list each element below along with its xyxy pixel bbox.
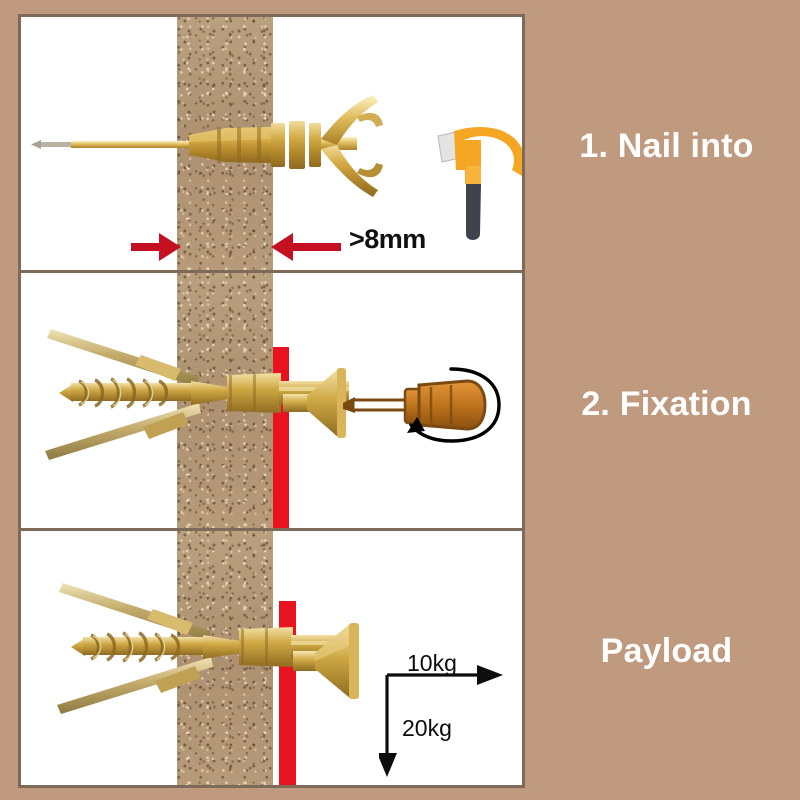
pullout-load-label: 20kg [402,715,452,742]
panel-column: >8mm [18,14,525,788]
step-1-panel: >8mm [21,17,522,270]
wall-thickness-label: >8mm [349,224,426,255]
wall-thickness-arrow-right [269,230,341,264]
step-3-panel: 10kg 20kg [21,531,522,785]
step-2-panel [21,273,522,528]
step-1-caption: 1. Nail into [533,127,800,166]
screwdriver-tool [339,355,519,465]
instruction-figure: >8mm [0,0,800,800]
step-3-caption: Payload [533,632,800,671]
anchor-hardware-step1 [21,87,441,217]
wall-thickness-arrow-left [131,230,183,264]
screw-head-step3 [293,619,373,703]
hammer-icon [434,122,522,242]
shear-load-label: 10kg [407,650,457,677]
step-2-caption: 2. Fixation [533,385,800,424]
